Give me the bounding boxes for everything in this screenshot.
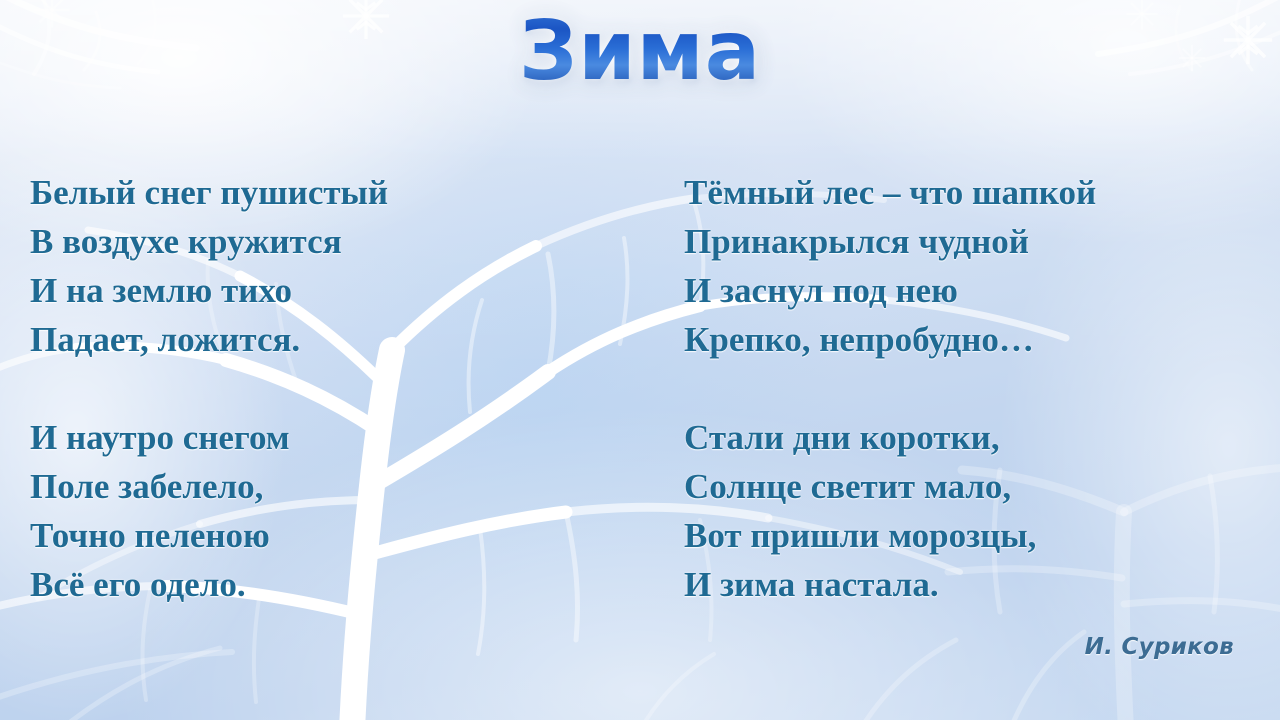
poem-line: Поле забелело,	[30, 462, 642, 511]
title-container: Зима	[0, 0, 1280, 104]
poem-line: Стали дни коротки,	[684, 413, 1250, 462]
poem-line: Крепко, непробудно…	[684, 315, 1250, 364]
poem-body: Белый снег пушистый В воздухе кружится И…	[0, 168, 1280, 618]
poem-line: Тёмный лес – что шапкой	[684, 168, 1250, 217]
poem-column-right: Тёмный лес – что шапкой Принакрылся чудн…	[642, 168, 1250, 618]
poem-line: Белый снег пушистый	[30, 168, 642, 217]
poem-line: Солнце светит мало,	[684, 462, 1250, 511]
page-title: Зима	[519, 11, 761, 93]
poem-line: Падает, ложится.	[30, 315, 642, 364]
winter-poem-slide: Зима Белый снег пушистый В воздухе кружи…	[0, 0, 1280, 720]
poem-line: И наутро снегом	[30, 413, 642, 462]
poem-line: Принакрылся чудной	[684, 217, 1250, 266]
poem-line: В воздухе кружится	[30, 217, 642, 266]
poem-line: И зима настала.	[684, 560, 1250, 609]
poem-line: И на землю тихо	[30, 266, 642, 315]
poem-line: И заснул под нею	[684, 266, 1250, 315]
author-attribution: И. Суриков	[1085, 634, 1234, 660]
frost-branches-bottom	[0, 632, 1084, 720]
stanza-4: Стали дни коротки, Солнце светит мало, В…	[684, 413, 1250, 609]
poem-line: Вот пришли морозцы,	[684, 511, 1250, 560]
stanza-1: Белый снег пушистый В воздухе кружится И…	[30, 168, 642, 364]
poem-line: Всё его одело.	[30, 560, 642, 609]
poem-line: Точно пеленою	[30, 511, 642, 560]
stanza-2: И наутро снегом Поле забелело, Точно пел…	[30, 413, 642, 609]
poem-column-left: Белый снег пушистый В воздухе кружится И…	[0, 168, 642, 618]
stanza-3: Тёмный лес – что шапкой Принакрылся чудн…	[684, 168, 1250, 364]
